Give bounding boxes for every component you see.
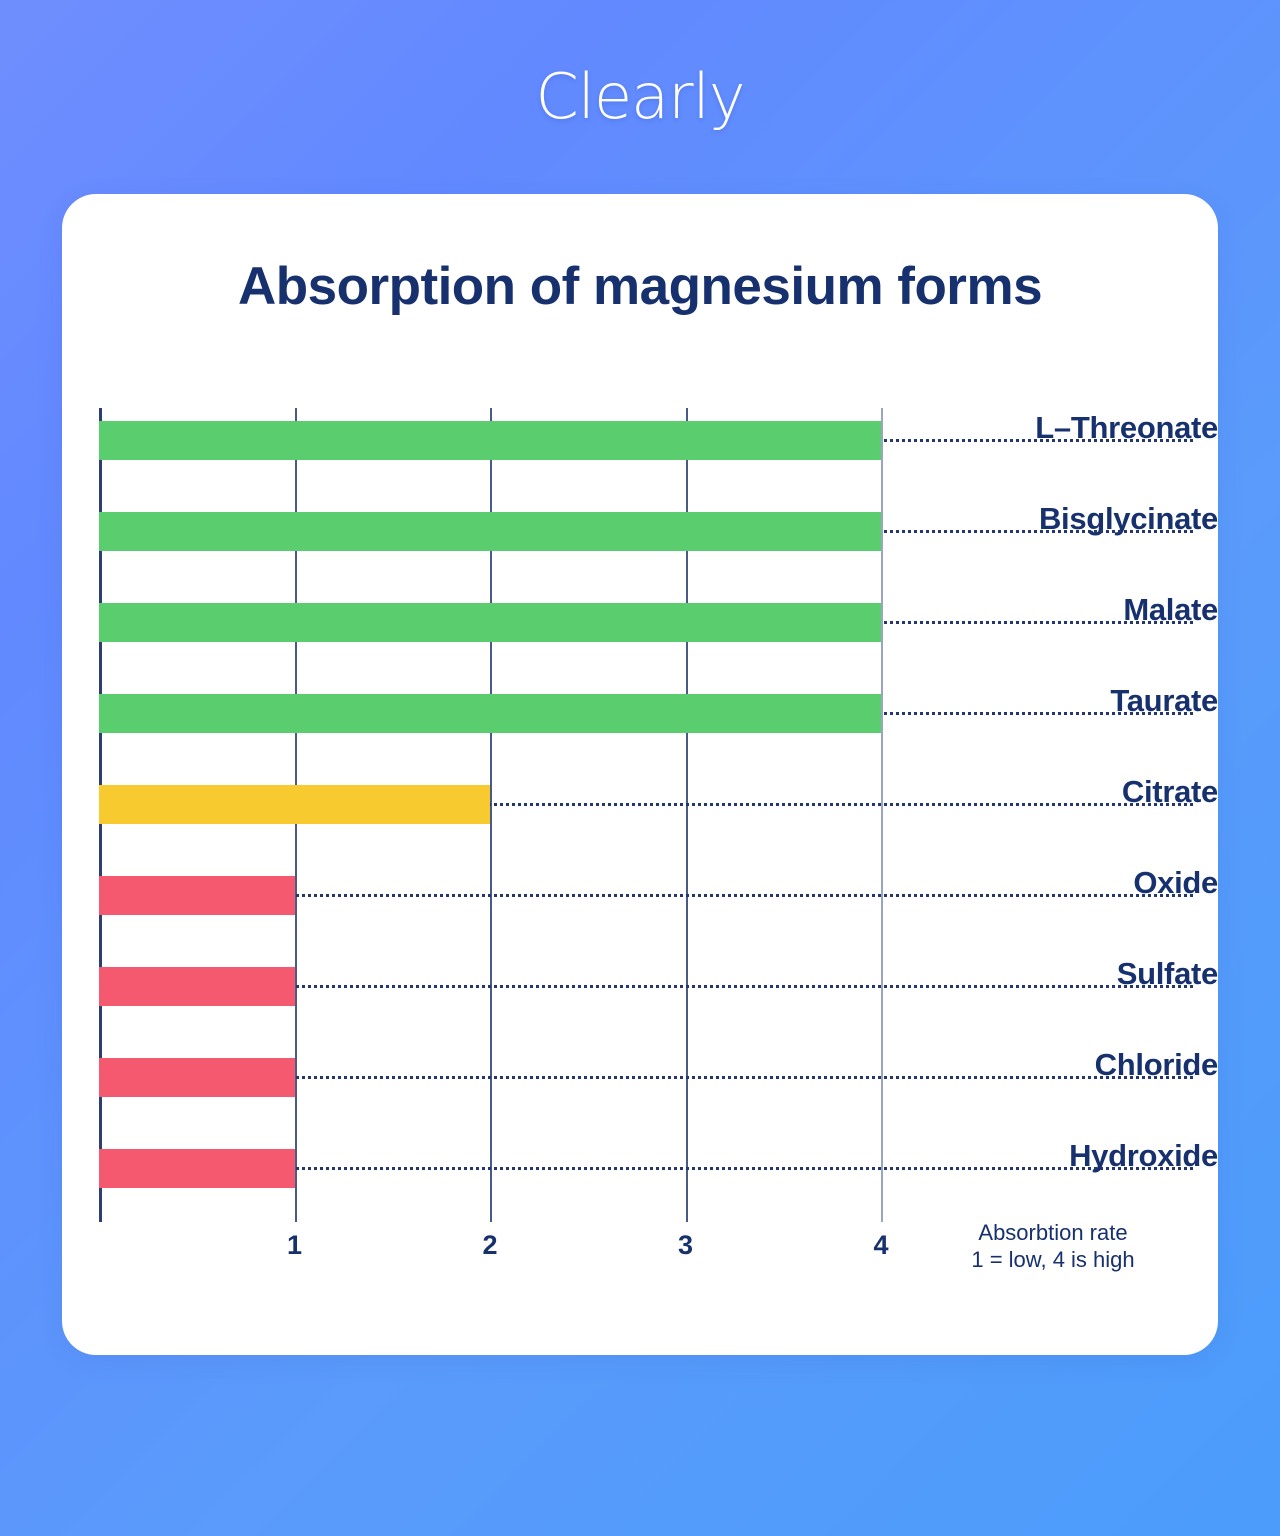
bar-rows: L–ThreonateBisglycinateMalateTaurateCitr… — [99, 408, 1218, 1222]
bar-l-threonate[interactable] — [99, 421, 881, 460]
brand-header: Clearly — [0, 0, 1280, 194]
bar-row: Chloride — [99, 1045, 1218, 1136]
x-tick-3: 3 — [666, 1230, 706, 1261]
bar-row: L–Threonate — [99, 408, 1218, 499]
axis-note-line-2: 1 = low, 4 is high — [888, 1247, 1218, 1274]
axis-note: Absorbtion rate 1 = low, 4 is high — [888, 1220, 1218, 1274]
bar-row: Malate — [99, 590, 1218, 681]
x-tick-1: 1 — [275, 1230, 315, 1261]
bar-hydroxide[interactable] — [99, 1149, 295, 1188]
chart-card: Absorption of magnesium forms L–Threonat… — [62, 194, 1218, 1355]
bar-chloride[interactable] — [99, 1058, 295, 1097]
axis-note-line-1: Absorbtion rate — [888, 1220, 1218, 1247]
bar-chart-plot: L–ThreonateBisglycinateMalateTaurateCitr… — [99, 408, 1218, 1238]
bar-row: Bisglycinate — [99, 499, 1218, 590]
bar-row: Taurate — [99, 681, 1218, 772]
bar-sulfate[interactable] — [99, 967, 295, 1006]
bar-taurate[interactable] — [99, 694, 881, 733]
clearly-logo: Clearly — [535, 66, 744, 128]
bar-oxide[interactable] — [99, 876, 295, 915]
bar-row: Citrate — [99, 772, 1218, 863]
bar-row: Sulfate — [99, 954, 1218, 1045]
page-title: Absorption of magnesium forms — [62, 256, 1218, 317]
bar-row: Hydroxide — [99, 1136, 1218, 1227]
bar-row: Oxide — [99, 863, 1218, 954]
bar-citrate[interactable] — [99, 785, 490, 824]
bar-bisglycinate[interactable] — [99, 512, 881, 551]
bar-malate[interactable] — [99, 603, 881, 642]
x-tick-2: 2 — [470, 1230, 510, 1261]
